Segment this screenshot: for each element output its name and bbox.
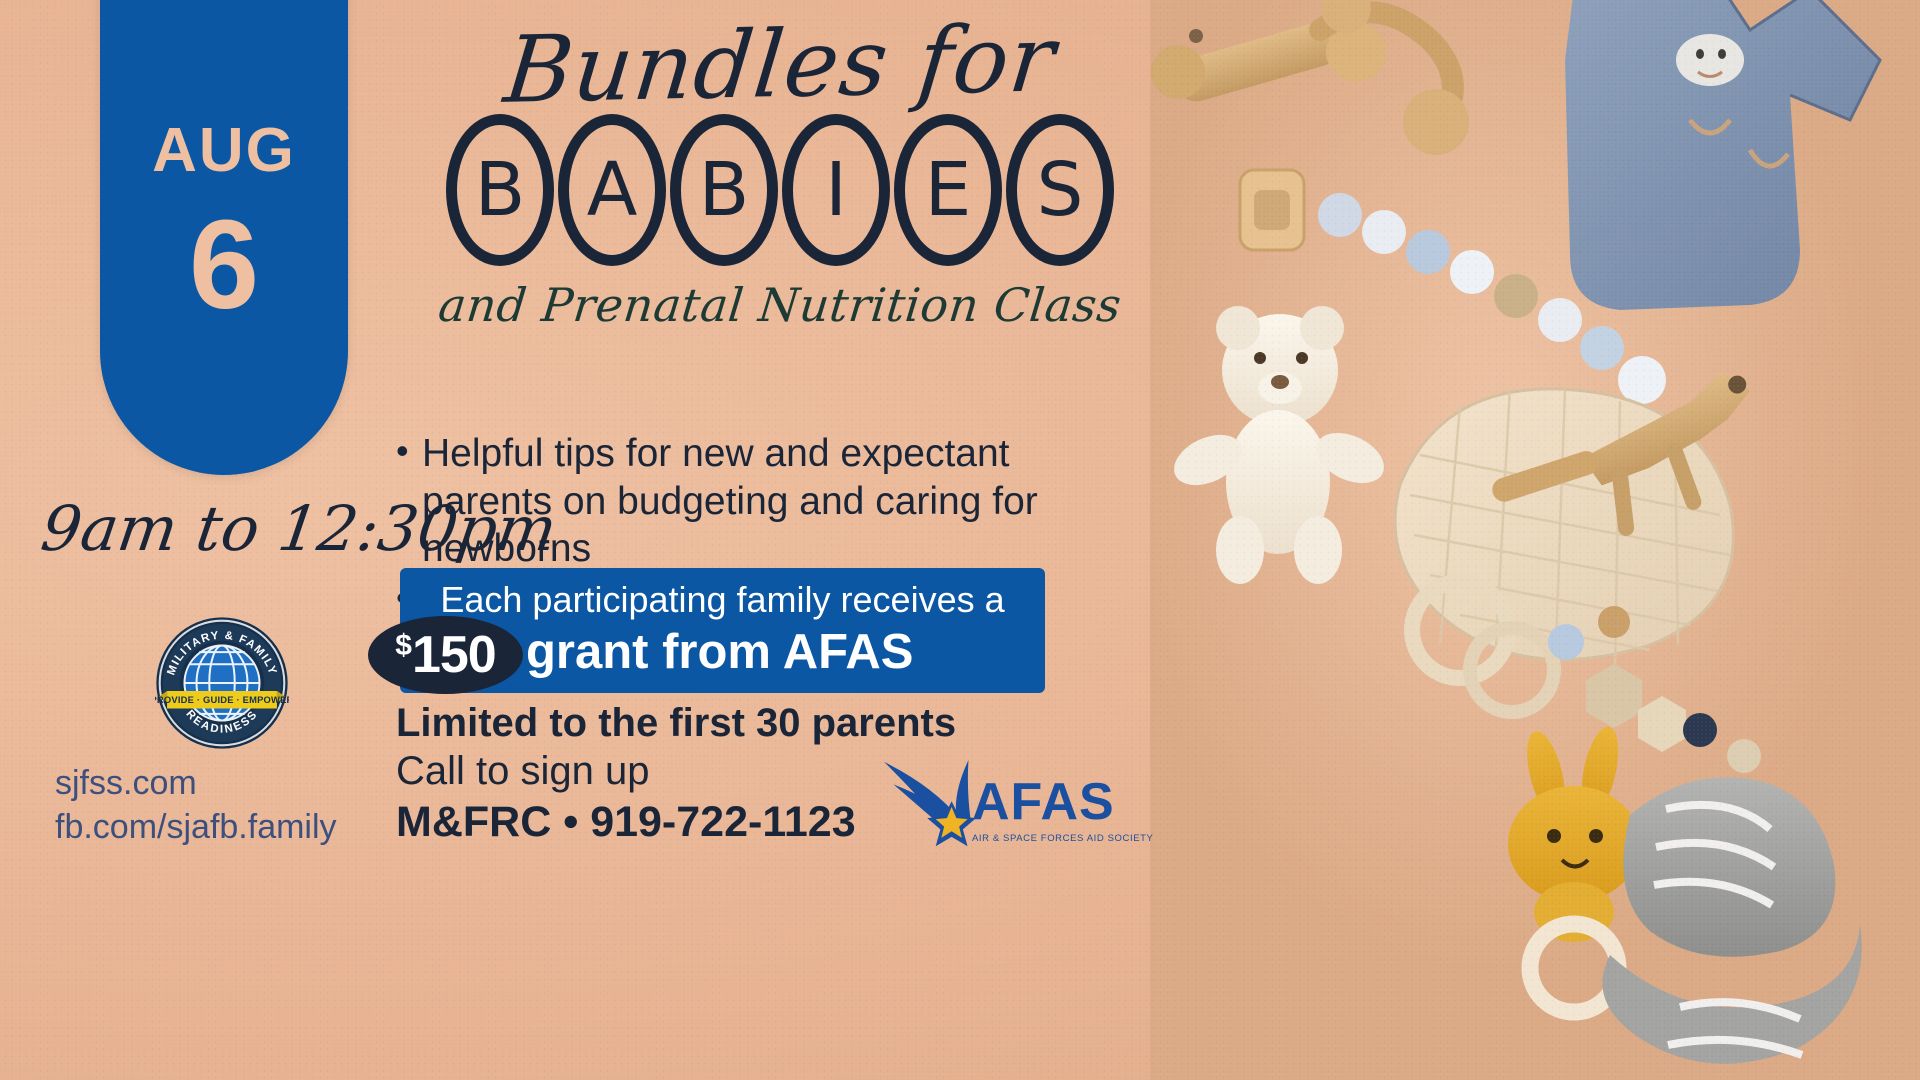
grant-line-two: grant from AFAS [526,626,913,680]
bullet-item: Helpful tips for new and expectant paren… [396,430,1136,573]
bubble-letter: A [558,114,666,266]
badge-month: AUG [152,120,296,182]
grant-amount: 150 [412,625,496,685]
bubble-letter: B [446,114,554,266]
grant-amount-badge: $150 [368,616,523,694]
grant-line-one: Each participating family receives a [400,580,1045,620]
afas-name: AFAS [972,776,1115,828]
baby-items-photo [1150,0,1920,1080]
headline-script-line: Bundles for [395,10,1164,120]
date-badge: AUG 6 [100,0,348,475]
contact-links: sjfss.com fb.com/sjafb.family [55,762,337,849]
afas-tagline: AIR & SPACE FORCES AID SOCIETY [972,834,1153,844]
bubble-letter: S [1006,114,1114,266]
seal-banner-text: PROVIDE · GUIDE · EMPOWER [155,695,289,705]
grant-callout-box: Each participating family receives a gra… [400,568,1045,693]
phone-contact-line: M&FRC • 919-722-1123 [396,798,856,848]
limited-capacity-text: Limited to the first 30 parents [396,700,956,746]
headline-subtitle: and Prenatal Nutrition Class [397,280,1162,331]
military-family-readiness-seal: PROVIDE · GUIDE · EMPOWER MILITARY & FAM… [155,616,289,750]
bubble-letter: E [894,114,1002,266]
bubble-letter: B [670,114,778,266]
baby-items-illustration [1150,0,1920,1080]
headline: Bundles for B A B I E S and Prenatal Nut… [400,18,1160,330]
mfr-seal-icon: PROVIDE · GUIDE · EMPOWER MILITARY & FAM… [155,616,289,750]
call-to-action-text: Call to sign up [396,748,649,794]
badge-day: 6 [189,202,259,328]
facebook-link[interactable]: fb.com/sjafb.family [55,806,337,850]
currency-symbol: $ [395,629,412,663]
poster-canvas: AUG 6 Bundles for B A B I E S and Prenat… [0,0,1920,1080]
bubble-letter: I [782,114,890,266]
headline-bubble-word: B A B I E S [400,114,1160,266]
website-link[interactable]: sjfss.com [55,762,337,806]
